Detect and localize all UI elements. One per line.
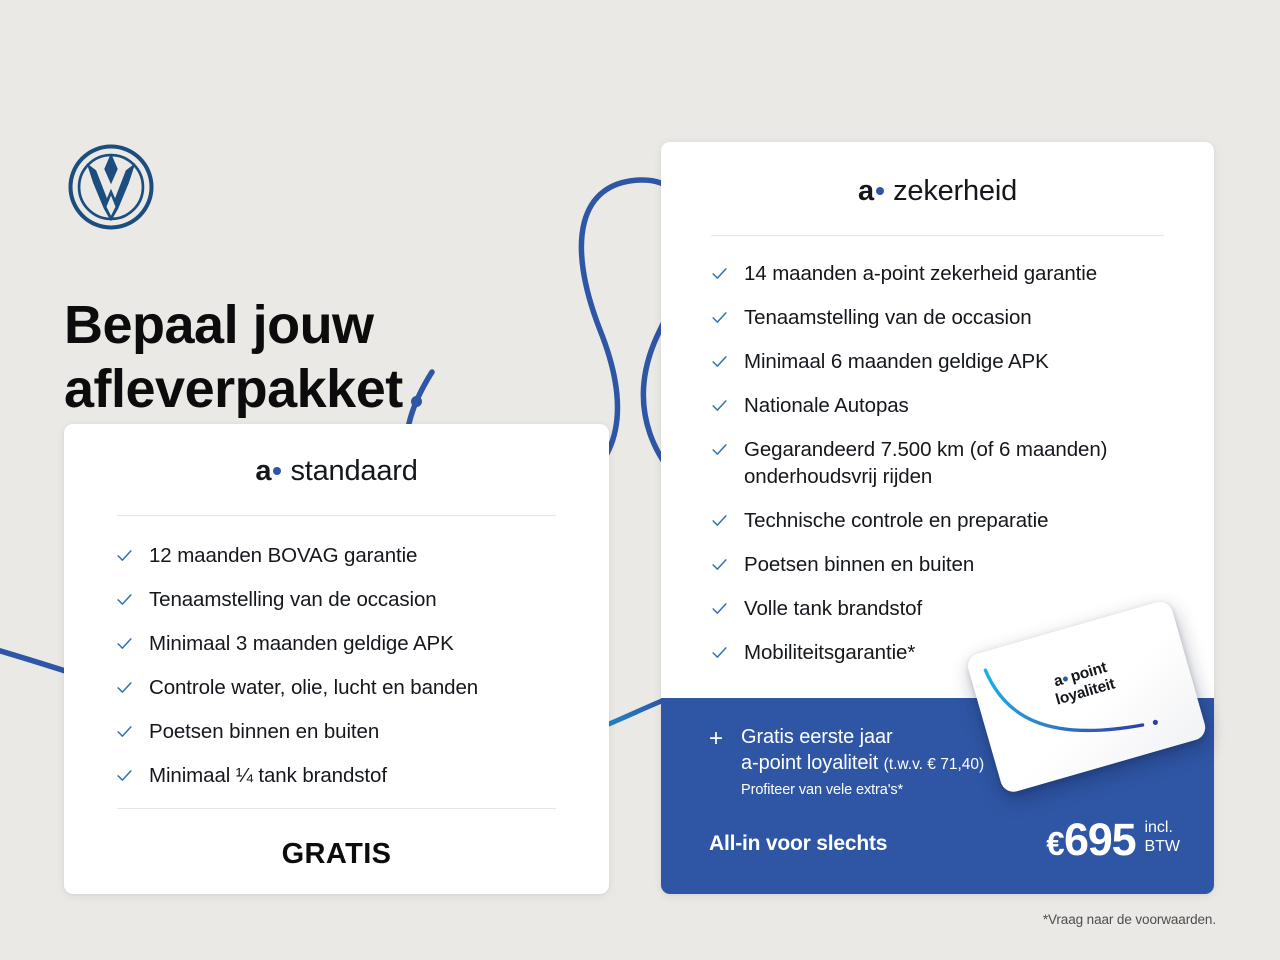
headline-line-2: afleverpakket [64, 359, 403, 419]
list-item-label: Minimaal 6 maanden geldige APK [744, 348, 1049, 375]
check-icon [116, 679, 133, 696]
check-icon [116, 635, 133, 652]
list-item: Controle water, olie, lucht en banden [116, 674, 609, 701]
list-item-label: Controle water, olie, lucht en banden [149, 674, 478, 701]
price-label-zekerheid: All-in voor slechts [709, 832, 887, 862]
loyalty-bonus-block: + Gratis eerste jaar a-point loyaliteit … [709, 724, 984, 800]
card-title-text: standaard [290, 455, 417, 487]
bonus-row: + Gratis eerste jaar a-point loyaliteit … [709, 724, 984, 800]
price-row: All-in voor slechts €695 incl. BTW [709, 817, 1180, 862]
price-suffix-line-1: incl. [1144, 819, 1180, 838]
card-title-zekerheid: azekerheid [661, 175, 1214, 208]
bonus-line-2-value: (t.w.v. € 71,40) [884, 756, 985, 773]
price-label-standaard: GRATIS [64, 838, 609, 871]
list-item-label: Technische controle en preparatie [744, 507, 1048, 534]
check-icon [711, 556, 728, 573]
volkswagen-logo [66, 142, 156, 232]
divider-top-zekerheid [711, 235, 1164, 236]
check-icon [116, 723, 133, 740]
price-amount: €695 [1046, 817, 1135, 862]
headline-accent-dot [411, 396, 422, 407]
brand-accent-dot [876, 187, 884, 195]
brand-mark-a: a [858, 175, 874, 207]
divider-bottom-standaard [117, 808, 556, 809]
list-item: Minimaal 3 maanden geldige APK [116, 630, 609, 657]
bonus-line-2: a-point loyaliteit (t.w.v. € 71,40) [741, 750, 984, 776]
bonus-line-2-main: a-point loyaliteit [741, 752, 878, 774]
divider-top-standaard [117, 515, 556, 516]
footnote-disclaimer: *Vraag naar de voorwaarden. [1043, 912, 1216, 927]
list-item-label: Minimaal 3 maanden geldige APK [149, 630, 454, 657]
price-currency: € [1046, 825, 1064, 862]
list-item: 14 maanden a-point zekerheid garantie [711, 260, 1172, 287]
list-item: Tenaamstelling van de occasion [711, 304, 1172, 331]
price-suffix: incl. BTW [1144, 819, 1180, 857]
check-icon [711, 512, 728, 529]
check-icon [711, 309, 728, 326]
feature-list-zekerheid: 14 maanden a-point zekerheid garantie Te… [661, 260, 1214, 666]
price-value: 695 [1064, 814, 1135, 865]
brand-mark-a: a [255, 455, 271, 487]
package-card-standaard[interactable]: astandaard 12 maanden BOVAG garantie Ten… [64, 424, 609, 894]
list-item-label: Minimaal ¼ tank brandstof [149, 762, 387, 789]
card-title-standaard: astandaard [64, 455, 609, 488]
list-item: Poetsen binnen en buiten [711, 551, 1172, 578]
list-item: Minimaal ¼ tank brandstof [116, 762, 609, 789]
promo-banner: Bepaal jouw afleverpakket astandaard 12 … [0, 0, 1280, 960]
list-item: Minimaal 6 maanden geldige APK [711, 348, 1172, 375]
list-item: Poetsen binnen en buiten [116, 718, 609, 745]
list-item-label: Tenaamstelling van de occasion [744, 304, 1032, 331]
check-icon [116, 591, 133, 608]
list-item-label: 14 maanden a-point zekerheid garantie [744, 260, 1097, 287]
card-title-text: zekerheid [893, 175, 1017, 207]
check-icon [711, 600, 728, 617]
list-item: Technische controle en preparatie [711, 507, 1172, 534]
check-icon [711, 397, 728, 414]
list-item-label: Poetsen binnen en buiten [149, 718, 379, 745]
list-item-label: Poetsen binnen en buiten [744, 551, 974, 578]
price-amount-wrap: €695 incl. BTW [1046, 817, 1180, 862]
list-item: Volle tank brandstof [711, 595, 1172, 622]
bonus-text: Gratis eerste jaar a-point loyaliteit (t… [741, 724, 984, 800]
headline-line-1: Bepaal jouw [64, 294, 624, 358]
plus-icon: + [709, 727, 723, 751]
brand-accent-dot [273, 467, 281, 475]
list-item-label: Tenaamstelling van de occasion [149, 586, 437, 613]
check-icon [116, 767, 133, 784]
feature-list-standaard: 12 maanden BOVAG garantie Tenaamstelling… [64, 542, 609, 789]
check-icon [711, 644, 728, 661]
list-item: 12 maanden BOVAG garantie [116, 542, 609, 569]
list-item-label: 12 maanden BOVAG garantie [149, 542, 417, 569]
check-icon [711, 353, 728, 370]
card-title-wrap-zekerheid: azekerheid [661, 142, 1214, 208]
card-title-wrap-standaard: astandaard [64, 424, 609, 488]
list-item: Nationale Autopas [711, 392, 1172, 419]
package-card-zekerheid[interactable]: azekerheid 14 maanden a-point zekerheid … [661, 142, 1214, 894]
check-icon [711, 265, 728, 282]
price-suffix-line-2: BTW [1144, 838, 1180, 857]
list-item-label: Nationale Autopas [744, 392, 909, 419]
list-item-label: Gegarandeerd 7.500 km (of 6 maanden) ond… [744, 436, 1172, 490]
check-icon [711, 441, 728, 458]
page-title: Bepaal jouw afleverpakket [64, 294, 624, 421]
list-item: Mobiliteitsgarantie* [711, 639, 1172, 666]
bonus-line-1: Gratis eerste jaar [741, 724, 984, 750]
list-item: Tenaamstelling van de occasion [116, 586, 609, 613]
list-item: Gegarandeerd 7.500 km (of 6 maanden) ond… [711, 436, 1172, 490]
headline-line-2-wrap: afleverpakket [64, 358, 624, 422]
bonus-line-3: Profiteer van vele extra's* [741, 780, 984, 800]
price-footer-zekerheid: + Gratis eerste jaar a-point loyaliteit … [661, 698, 1214, 894]
check-icon [116, 547, 133, 564]
list-item-label: Volle tank brandstof [744, 595, 922, 622]
list-item-label: Mobiliteitsgarantie* [744, 639, 915, 666]
